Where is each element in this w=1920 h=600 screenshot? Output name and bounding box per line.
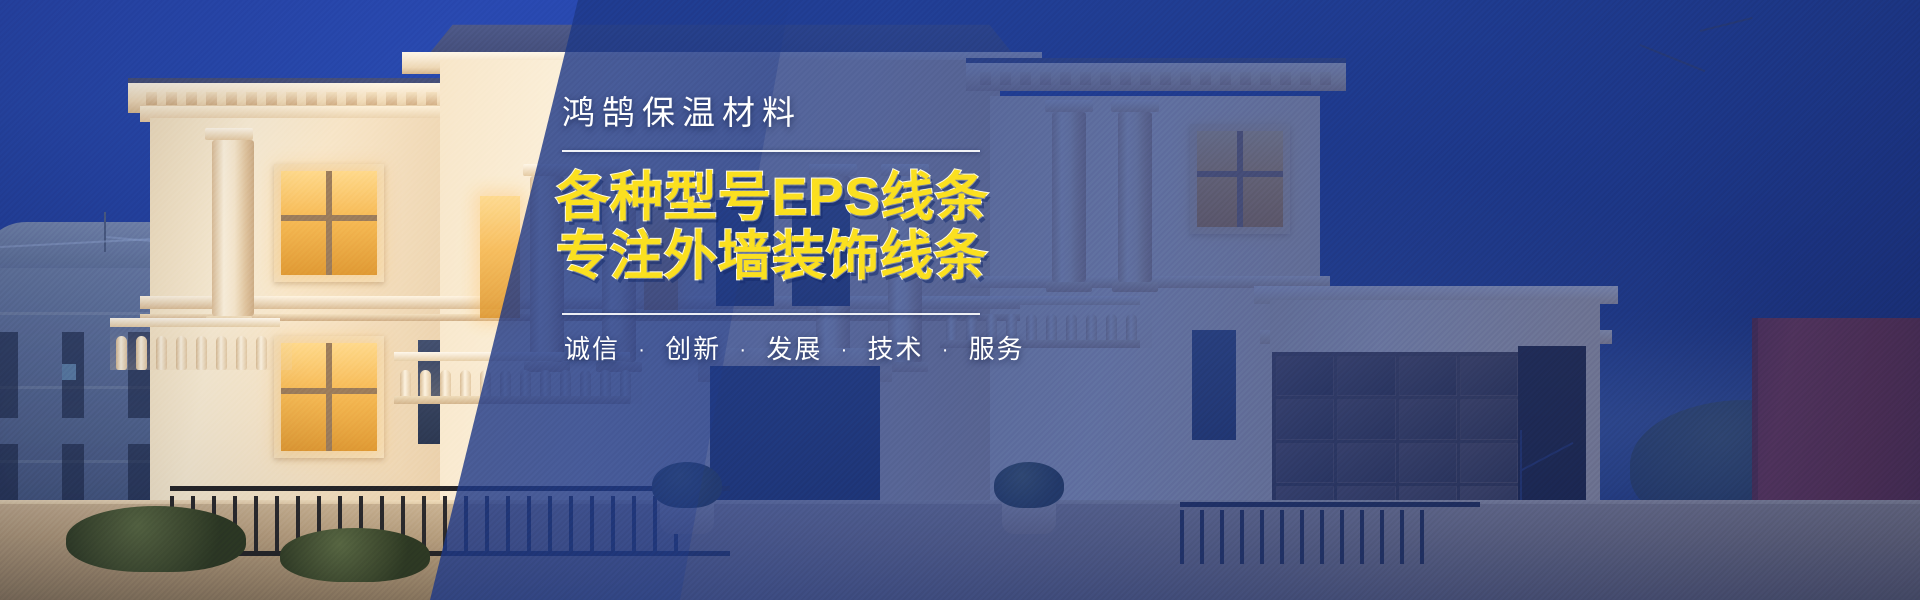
balustrade-3 — [110, 324, 292, 370]
tagline-separator-1: · — [730, 339, 757, 361]
brand-name: 鸿鹄保温材料 — [562, 96, 1026, 129]
column-7 — [212, 140, 254, 316]
tagline-item-3: 技术 — [867, 334, 923, 364]
tagline-item-1: 创新 — [665, 334, 721, 364]
divider-top — [562, 150, 980, 152]
tagline-item-2: 发展 — [766, 334, 822, 364]
banner-copy: 鸿鹄保温材料 各种型号EPS线条 专注外墙装饰线条 诚信 · 创新 · 发展 ·… — [556, 96, 1026, 366]
window-lit-1 — [281, 171, 377, 275]
shrub-4 — [280, 528, 430, 582]
promo-banner: 鸿鹄保温材料 各种型号EPS线条 专注外墙装饰线条 诚信 · 创新 · 发展 ·… — [0, 0, 1920, 600]
tagline-separator-2: · — [832, 339, 859, 361]
tagline-item-0: 诚信 — [564, 334, 620, 364]
headline-line-2: 专注外墙装饰线条 — [556, 227, 1026, 286]
shrub-3 — [66, 506, 246, 572]
tagline-separator-0: · — [629, 339, 656, 361]
tagline-item-4: 服务 — [969, 334, 1025, 364]
antenna — [104, 212, 106, 252]
headline-line-1: 各种型号EPS线条 — [556, 168, 989, 227]
tagline: 诚信 · 创新 · 发展 · 技术 · 服务 — [564, 329, 1026, 366]
tagline-separator-3: · — [933, 339, 960, 361]
window-lit-2 — [281, 343, 377, 451]
headline: 各种型号EPS线条 专注外墙装饰线条 — [556, 168, 1026, 287]
divider-bottom — [562, 313, 980, 315]
